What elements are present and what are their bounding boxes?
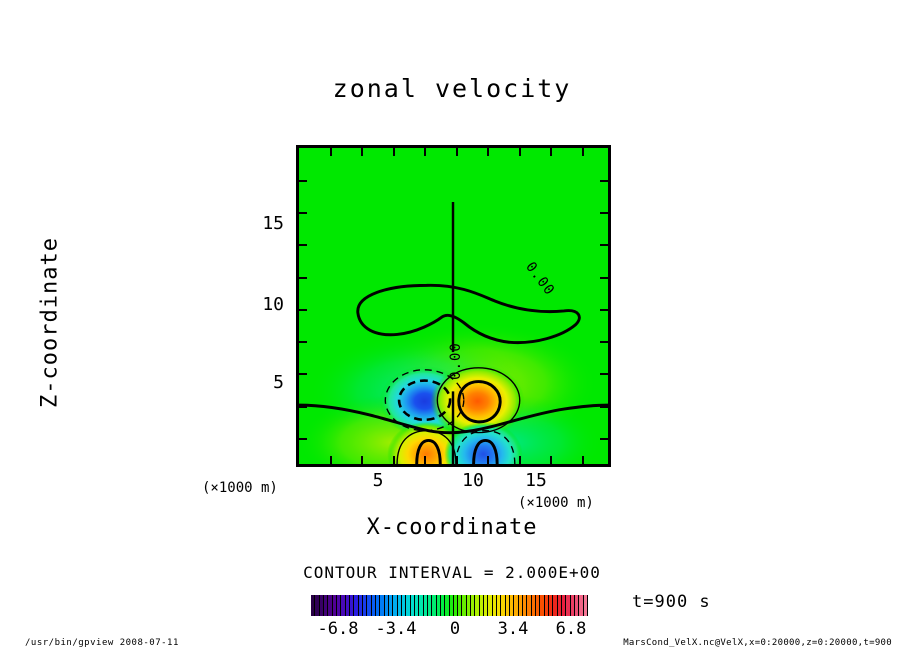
y-tick <box>299 309 307 311</box>
x-tick-top <box>361 148 363 156</box>
y-tick <box>299 244 307 246</box>
colorbar-gradient <box>311 595 588 616</box>
y-tick-right <box>600 180 608 182</box>
y-tick-right <box>600 277 608 279</box>
y-tick-right <box>600 373 608 375</box>
x-tick <box>519 456 521 464</box>
colorbar-tick-label: 6.8 <box>546 619 596 639</box>
colorbar <box>311 595 588 616</box>
x-tick <box>487 456 489 464</box>
x-axis-unit-label: (×1000 m) <box>518 495 594 511</box>
y-axis-unit-label: (×1000 m) <box>202 480 278 496</box>
x-tick-top <box>550 148 552 156</box>
footer-command-label: /usr/bin/gpview 2008-07-11 <box>25 638 179 648</box>
contour-plot-area: 0.00 0.00 <box>296 145 611 467</box>
y-tick-right <box>600 341 608 343</box>
x-tick-label: 15 <box>516 470 556 491</box>
y-tick <box>299 180 307 182</box>
x-tick-top <box>487 148 489 156</box>
y-tick-label: 15 <box>252 213 284 234</box>
x-tick <box>361 456 363 464</box>
x-tick-top <box>424 148 426 156</box>
x-tick-top <box>456 148 458 156</box>
x-tick-major <box>456 456 458 464</box>
x-tick <box>393 456 395 464</box>
time-label: t=900 s <box>632 592 711 612</box>
x-tick-top <box>393 148 395 156</box>
y-axis-title: Z-coordinate <box>38 213 63 433</box>
contour-field <box>299 148 608 464</box>
x-tick-top <box>582 148 584 156</box>
colorbar-tick-label: -6.8 <box>313 619 363 639</box>
x-tick <box>550 456 552 464</box>
x-tick-top <box>330 148 332 156</box>
contour-interval-label: CONTOUR INTERVAL = 2.000E+00 <box>0 563 904 582</box>
x-tick-label: 5 <box>358 470 398 491</box>
x-tick <box>330 456 332 464</box>
x-tick <box>424 456 426 464</box>
colorbar-tick-label: -3.4 <box>371 619 421 639</box>
y-tick <box>299 373 307 375</box>
y-tick-right <box>600 212 608 214</box>
y-tick-right <box>600 438 608 440</box>
y-tick-right <box>600 244 608 246</box>
x-tick-label: 10 <box>453 470 493 491</box>
y-tick <box>299 341 307 343</box>
footer-dataset-label: MarsCond_VelX.nc@VelX,x=0:20000,z=0:2000… <box>623 638 892 648</box>
y-tick-label: 10 <box>252 294 284 315</box>
chart-title: zonal velocity <box>0 74 904 103</box>
y-tick-label: 5 <box>252 372 284 393</box>
x-axis-title: X-coordinate <box>302 515 602 540</box>
y-tick <box>299 438 307 440</box>
contour-label-center: 0.00 <box>448 342 464 380</box>
x-tick <box>582 456 584 464</box>
y-tick <box>299 212 307 214</box>
y-tick <box>299 277 307 279</box>
colorbar-tick-label: 3.4 <box>488 619 538 639</box>
y-tick <box>299 406 307 408</box>
colorbar-tick-label: 0 <box>430 619 480 639</box>
x-tick-top <box>519 148 521 156</box>
colorbar-band <box>584 595 588 616</box>
y-tick-right <box>600 309 608 311</box>
y-tick-right <box>600 406 608 408</box>
